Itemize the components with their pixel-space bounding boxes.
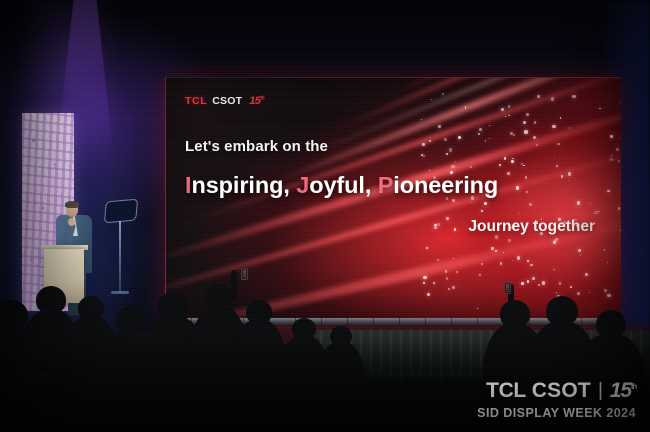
photo-canvas: TCL CSOT 15th Let's embark on the Inspir…: [0, 0, 650, 432]
monitor-base: [111, 291, 129, 294]
headline-text: oyful,: [309, 172, 378, 198]
monitor-stand: [119, 221, 121, 293]
watermark-brand-row: TCL CSOT | 15th: [477, 380, 636, 401]
speaker-hair: [65, 201, 79, 208]
watermark-tcl: TCL: [486, 380, 526, 401]
speaker-hand-with-microphone: [68, 218, 75, 226]
audience-member-head: [36, 286, 66, 314]
audience-member-head: [205, 284, 233, 310]
watermark-divider: |: [597, 381, 604, 400]
watermark-anniversary: 15th: [610, 380, 636, 401]
audience-member-head: [158, 292, 188, 320]
slide-text-block: Let's embark on the Inspiring, Joyful, P…: [185, 138, 605, 236]
audience-raised-arm: [231, 270, 237, 300]
event-watermark: TCL CSOT | 15th SID DISPLAY WEEK 2024: [477, 380, 636, 420]
attendee-phone: [504, 282, 511, 294]
slide-headline: Inspiring, Joyful, Pioneering: [185, 172, 605, 199]
slide-line-3: Journey together: [185, 218, 605, 236]
watermark-csot: CSOT: [532, 380, 591, 401]
headline-text: ioneering: [393, 172, 498, 198]
audience-member-head: [292, 318, 316, 340]
audience-member-head: [0, 300, 28, 330]
confidence-monitor: [104, 199, 138, 224]
attendee-phone: [241, 268, 248, 280]
slide-logo-csot: CSOT: [212, 95, 242, 107]
headline-text: nspiring,: [191, 172, 296, 198]
audience-member-head: [546, 296, 578, 326]
audience-member-head: [116, 306, 146, 334]
slide-logo-anniversary: 15th: [249, 95, 264, 107]
audience-member-head: [500, 300, 530, 328]
watermark-event-name: SID DISPLAY WEEK 2024: [477, 406, 636, 420]
audience-member-head: [596, 310, 626, 338]
slide-logo-tcl: TCL: [185, 95, 207, 107]
slide-line-1: Let's embark on the: [185, 138, 605, 155]
headline-initial: J: [296, 172, 309, 198]
audience-member-head: [246, 300, 272, 324]
headline-initial: P: [378, 172, 394, 198]
slide-brand-logo: TCL CSOT 15th: [185, 95, 264, 107]
audience-member-head: [78, 296, 104, 320]
